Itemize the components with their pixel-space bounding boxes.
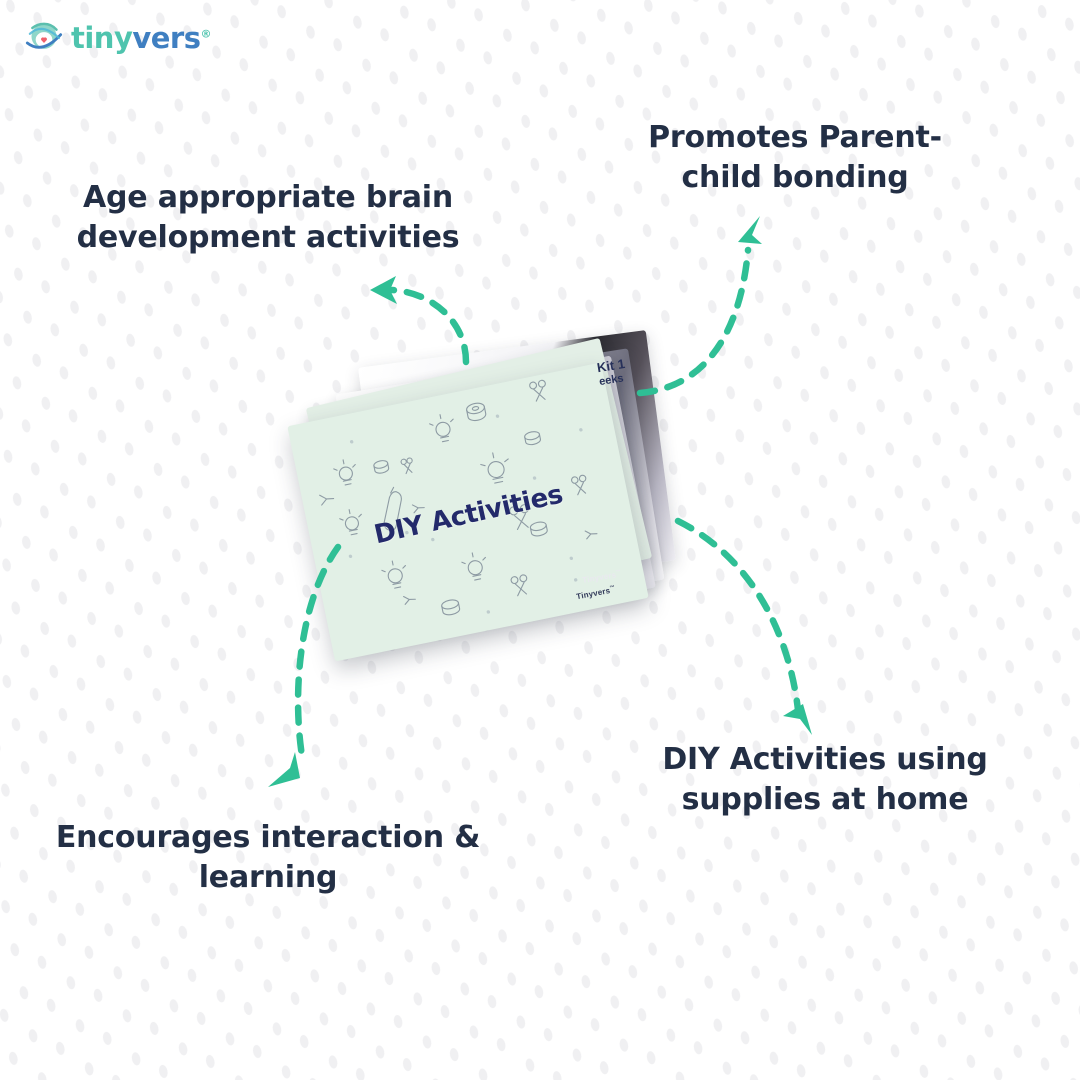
lightbulb-icon bbox=[460, 551, 489, 582]
callout-parent-child-bonding: Promotes Parent-child bonding bbox=[620, 118, 970, 197]
scissors-icon bbox=[401, 458, 415, 475]
trademark-icon: ™ bbox=[615, 569, 621, 576]
brand-wordmark-part1: tiny bbox=[71, 21, 132, 55]
brand-wordmark-part2: vers bbox=[132, 21, 200, 55]
tape-roll-icon bbox=[441, 599, 461, 617]
brand-logo[interactable]: tinyvers® bbox=[24, 18, 211, 58]
callout-diy-supplies: DIY Activities using supplies at home bbox=[650, 740, 1000, 819]
tinyvers-globe-baby-icon bbox=[24, 18, 64, 58]
paper-clip-icon bbox=[320, 493, 335, 505]
registered-trademark-icon: ® bbox=[201, 27, 212, 40]
product-card-stack[interactable]: Kit 1 bbox=[300, 330, 700, 670]
lightbulb-icon bbox=[381, 559, 410, 590]
tape-roll-icon bbox=[524, 430, 541, 445]
tape-roll-icon bbox=[466, 402, 487, 422]
scissors-icon bbox=[510, 574, 529, 596]
lightbulb-icon bbox=[479, 450, 512, 485]
paper-clip-icon bbox=[404, 594, 416, 604]
callout-encourages-interaction: Encourages interaction & learning bbox=[48, 818, 488, 897]
tape-roll-icon bbox=[530, 521, 548, 537]
paper-clip-icon bbox=[585, 529, 597, 539]
lightbulb-icon bbox=[428, 412, 457, 443]
kit-label: Kit 1 eeks bbox=[596, 356, 629, 390]
scissors-icon bbox=[529, 380, 548, 402]
tape-roll-icon bbox=[373, 460, 389, 475]
brand-wordmark: tinyvers® bbox=[71, 24, 211, 53]
callout-age-appropriate: Age appropriate brain development activi… bbox=[68, 178, 468, 257]
trademark-icon: ™ bbox=[609, 584, 615, 591]
lightbulb-icon bbox=[332, 458, 359, 487]
